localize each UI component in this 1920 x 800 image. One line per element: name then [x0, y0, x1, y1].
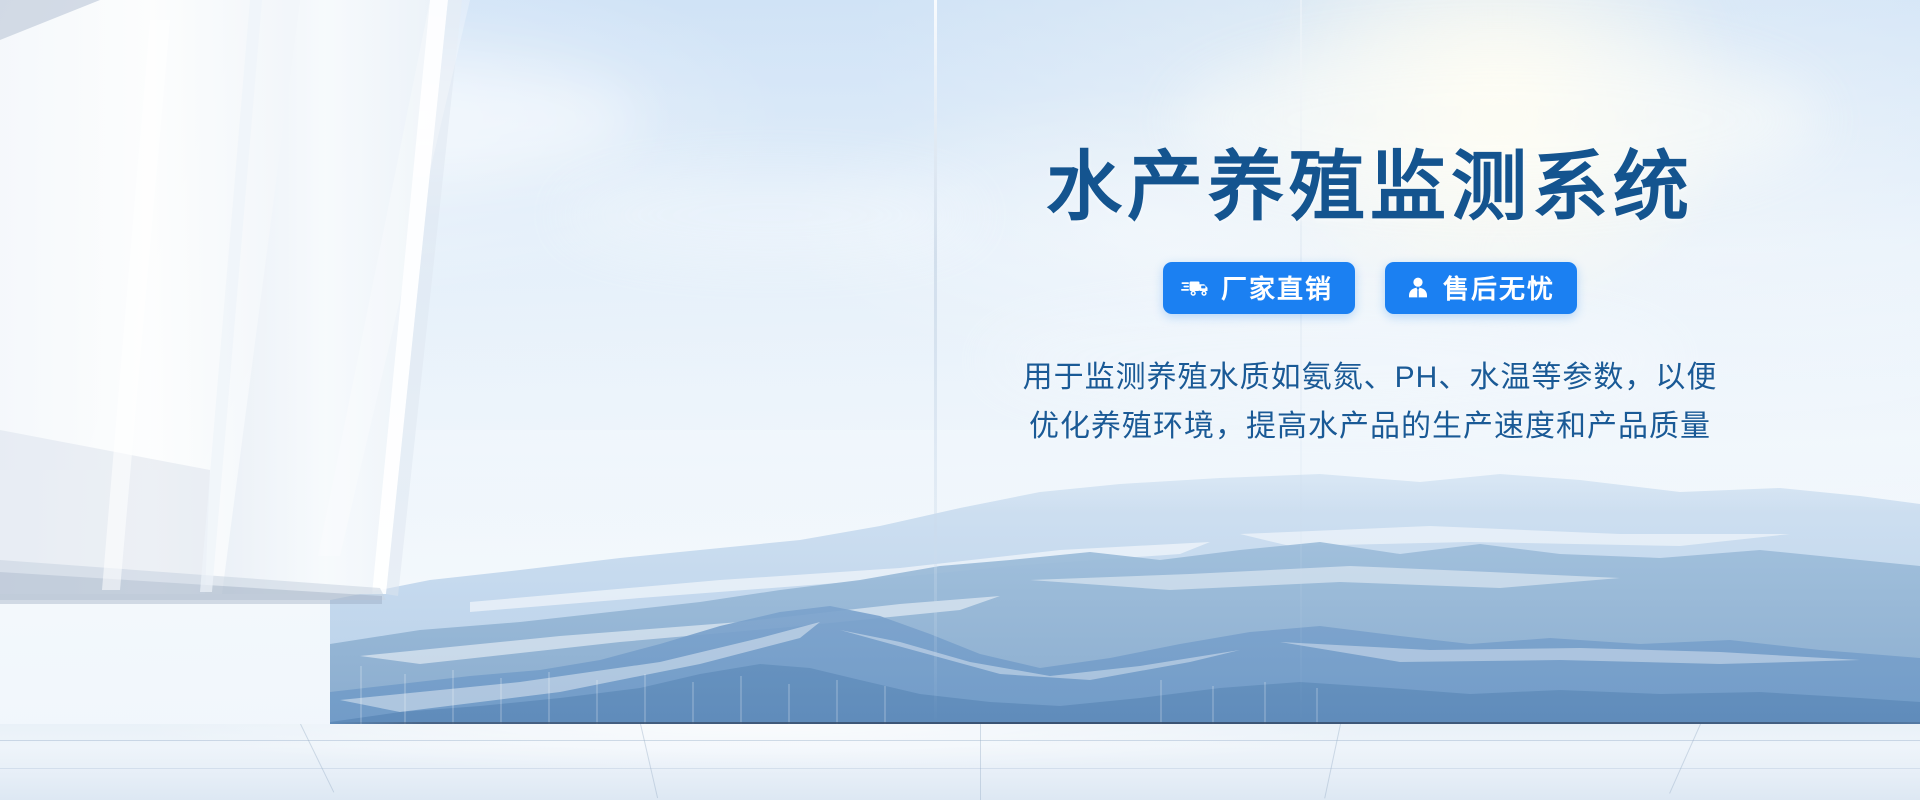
badge-factory-direct[interactable]: 厂家直销	[1163, 262, 1355, 314]
floor-gridline	[640, 724, 658, 798]
description-line: 优化养殖环境，提高水产品的生产速度和产品质量	[860, 403, 1880, 452]
badge-list: 厂家直销 售后无忧	[860, 262, 1880, 314]
floor-gridline	[980, 724, 981, 800]
hero-banner: 水产养殖监测系统	[0, 0, 1920, 800]
badge-label: 厂家直销	[1221, 269, 1333, 306]
floor-gridline	[0, 740, 1920, 741]
cloud-wisp	[120, 60, 640, 180]
floor-gridline	[0, 768, 1920, 769]
badge-after-sales[interactable]: 售后无忧	[1385, 262, 1577, 314]
white-architectural-panel	[0, 0, 1000, 800]
badge-label: 售后无忧	[1443, 269, 1555, 306]
floor-gridline	[1669, 724, 1701, 794]
page-title: 水产养殖监测系统	[860, 150, 1880, 226]
support-person-icon	[1403, 275, 1433, 301]
banner-description: 用于监测养殖水质如氨氮、PH、水温等参数，以便 优化养殖环境，提高水产品的生产速…	[860, 354, 1880, 451]
banner-content: 水产养殖监测系统	[860, 150, 1880, 570]
truck-icon	[1181, 275, 1211, 301]
description-line: 用于监测养殖水质如氨氮、PH、水温等参数，以便	[860, 354, 1880, 403]
floor-glow	[0, 724, 1920, 800]
floor-gridline	[300, 724, 334, 793]
tiled-floor	[0, 724, 1920, 800]
floor-gridline	[1324, 724, 1341, 798]
